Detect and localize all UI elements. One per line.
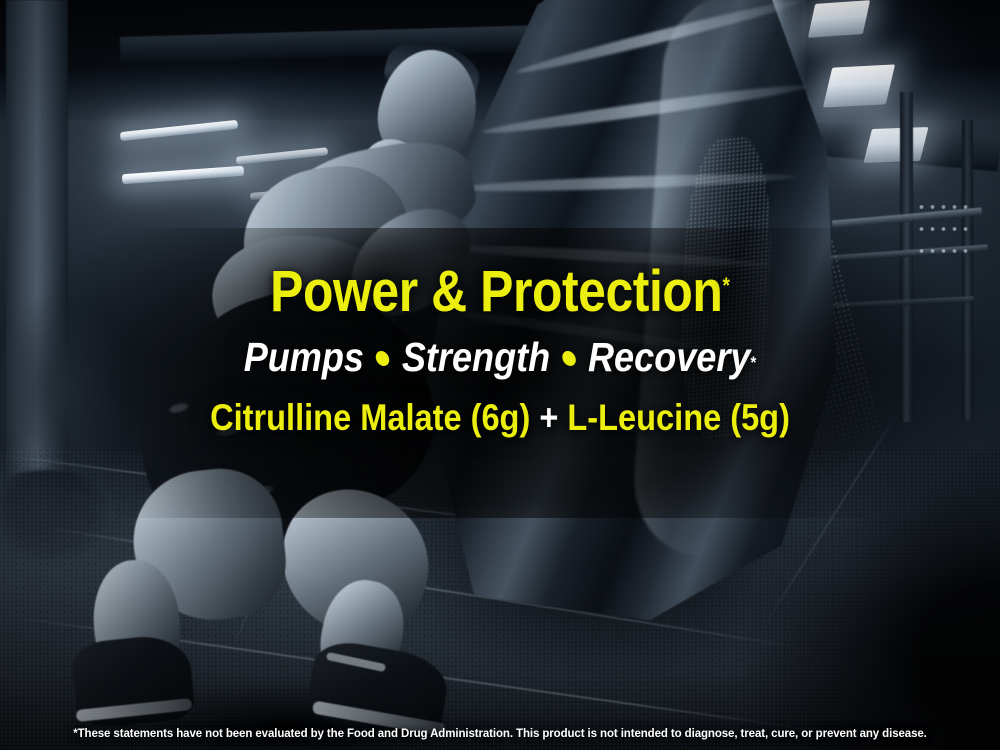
- background-photo: [0, 0, 1000, 750]
- squat-rack-upright: [962, 120, 973, 420]
- athlete: [60, 40, 520, 740]
- corner-darkening: [580, 450, 1000, 750]
- promo-banner: Power & Protection* PumpsStrengthRecover…: [0, 0, 1000, 750]
